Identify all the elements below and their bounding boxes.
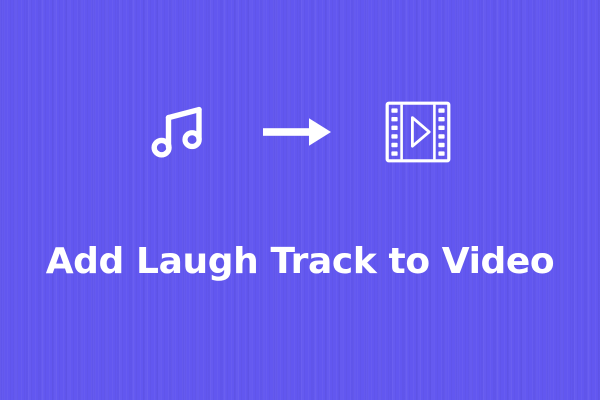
sprocket-holes-left (391, 108, 397, 155)
background-texture (0, 0, 600, 400)
film-strip-play-glyph (385, 101, 451, 163)
note-head-left (154, 140, 169, 154)
note-head-right (185, 133, 199, 147)
arrow-right-icon (263, 115, 333, 149)
play-triangle (412, 118, 429, 147)
music-note-icon (149, 101, 211, 163)
music-note-glyph (149, 101, 211, 163)
page-title: Add Laugh Track to Video (0, 240, 600, 284)
icon-row (0, 96, 600, 168)
sprocket-holes-right (438, 108, 444, 155)
arrow-right-glyph (263, 115, 333, 149)
film-strip-play-icon (385, 101, 451, 163)
promo-card: Add Laugh Track to Video (0, 0, 600, 400)
